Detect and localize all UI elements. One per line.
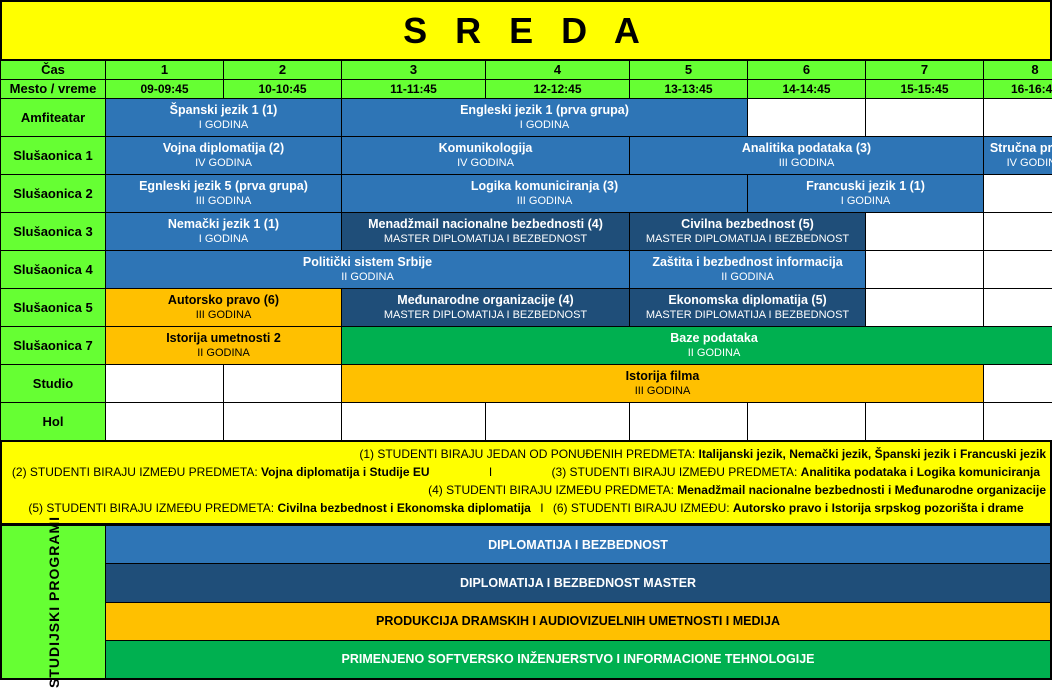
period-header-5: 5 [630, 61, 748, 80]
empty-slot-cell [866, 251, 984, 289]
empty-slot-cell [984, 289, 1052, 327]
footnote-6-prefix: (6) STUDENTI BIRAJU IZMEĐU: [553, 501, 733, 515]
schedule-body: AmfiteatarŠpanski jezik 1 (1)I GODINAEng… [1, 99, 1052, 441]
study-program-item[interactable]: PRIMENJENO SOFTVERSKO INŽENJERSTVO I INF… [106, 641, 1050, 678]
class-title: Logika komuniciranja (3) [342, 179, 747, 194]
room-label-6: Slušaonica 7 [1, 327, 106, 365]
period-header-row: Čas12345678 [1, 61, 1052, 80]
footnote-3-subjects: Analitika podataka i Logika komuniciranj… [801, 465, 1040, 479]
study-programs-label-text: STUDIJSKI PROGRAMI [46, 516, 62, 688]
footnote-5-subjects: Civilna bezbednost i Ekonomska diplomati… [277, 501, 530, 515]
table-row: Slušaonica 1Vojna diplomatija (2)IV GODI… [1, 137, 1052, 175]
schedule-page: S R E D A Čas12345678 Mesto / vreme09-09… [0, 0, 1052, 692]
footnote-2-3: (2) STUDENTI BIRAJU IZMEĐU PREDMETA: Voj… [6, 463, 1046, 481]
footnote-3-prefix: (3) STUDENTI BIRAJU IZMEĐU PREDMETA: [552, 465, 801, 479]
class-title: Španski jezik 1 (1) [106, 103, 341, 118]
study-program-item[interactable]: PRODUKCIJA DRAMSKIH I AUDIOVIZUELNIH UME… [106, 603, 1050, 641]
class-year: IV GODINA [984, 156, 1052, 170]
study-program-label: DIPLOMATIJA I BEZBEDNOST MASTER [460, 576, 696, 590]
time-header-row: Mesto / vreme09-09:4510-10:4511-11:4512-… [1, 80, 1052, 99]
class-title: Stručna praksa [984, 141, 1052, 156]
empty-slot-cell [866, 213, 984, 251]
class-title: Engleski jezik 1 (prva grupa) [342, 103, 747, 118]
room-label-0: Amfiteatar [1, 99, 106, 137]
footnote-4-subjects: Menadžmail nacionalne bezbednosti i Među… [677, 483, 1046, 497]
room-label-1: Slušaonica 1 [1, 137, 106, 175]
class-title: Egnleski jezik 5 (prva grupa) [106, 179, 341, 194]
table-row: Slušaonica 4Politički sistem SrbijeII GO… [1, 251, 1052, 289]
class-cell[interactable]: Analitika podataka (3)III GODINA [630, 137, 984, 175]
day-title-banner: S R E D A [0, 0, 1052, 60]
footnote-5-prefix: (5) STUDENTI BIRAJU IZMEĐU PREDMETA: [28, 501, 277, 515]
table-row: StudioIstorija filmaIII GODINA [1, 365, 1052, 403]
class-cell[interactable]: Španski jezik 1 (1)I GODINA [106, 99, 342, 137]
class-cell[interactable]: Civilna bezbednost (5)MASTER DIPLOMATIJA… [630, 213, 866, 251]
study-programs-block: STUDIJSKI PROGRAMI DIPLOMATIJA I BEZBEDN… [0, 525, 1052, 680]
class-cell[interactable]: Autorsko pravo (6)III GODINA [106, 289, 342, 327]
period-header-7: 7 [866, 61, 984, 80]
class-cell[interactable]: Istorija filmaIII GODINA [342, 365, 984, 403]
study-program-label: PRODUKCIJA DRAMSKIH I AUDIOVIZUELNIH UME… [376, 614, 780, 628]
empty-slot-cell [984, 213, 1052, 251]
room-label-3: Slušaonica 3 [1, 213, 106, 251]
page-title: S R E D A [403, 10, 649, 52]
empty-slot-cell [630, 403, 748, 441]
class-year: II GODINA [106, 346, 341, 360]
table-row: Slušaonica 3Nemački jezik 1 (1)I GODINAM… [1, 213, 1052, 251]
class-year: III GODINA [630, 156, 983, 170]
class-year: MASTER DIPLOMATIJA I BEZBEDNOST [342, 232, 629, 246]
empty-slot-cell [984, 175, 1052, 213]
class-title: Vojna diplomatija (2) [106, 141, 341, 156]
class-year: III GODINA [106, 194, 341, 208]
empty-slot-cell [866, 403, 984, 441]
class-year: III GODINA [342, 384, 983, 398]
schedule-table: Čas12345678 Mesto / vreme09-09:4510-10:4… [0, 60, 1052, 441]
schedule-header: Čas12345678 Mesto / vreme09-09:4510-10:4… [1, 61, 1052, 99]
empty-slot-cell [984, 251, 1052, 289]
empty-slot-cell [224, 365, 342, 403]
empty-slot-cell [342, 403, 486, 441]
class-title: Komunikologija [342, 141, 629, 156]
period-header-label: Čas [1, 61, 106, 80]
study-program-label: DIPLOMATIJA I BEZBEDNOST [488, 538, 668, 552]
empty-slot-cell [984, 403, 1052, 441]
footnote-1: (1) STUDENTI BIRAJU JEDAN OD PONUĐENIH P… [6, 445, 1046, 463]
footnote-6-subjects: Autorsko pravo i Istorija srpskog pozori… [733, 501, 1024, 515]
time-header-3: 11-11:45 [342, 80, 486, 99]
class-year: III GODINA [342, 194, 747, 208]
class-cell[interactable]: Menadžmail nacionalne bezbednosti (4)MAS… [342, 213, 630, 251]
empty-slot-cell [866, 289, 984, 327]
empty-slot-cell [984, 365, 1052, 403]
class-cell[interactable]: Vojna diplomatija (2)IV GODINA [106, 137, 342, 175]
class-cell[interactable]: Ekonomska diplomatija (5)MASTER DIPLOMAT… [630, 289, 866, 327]
class-cell[interactable]: Zaštita i bezbednost informacijaII GODIN… [630, 251, 866, 289]
footnote-4: (4) STUDENTI BIRAJU IZMEĐU PREDMETA: Men… [6, 481, 1046, 499]
empty-slot-cell [486, 403, 630, 441]
time-header-7: 15-15:45 [866, 80, 984, 99]
class-title: Civilna bezbednost (5) [630, 217, 865, 232]
room-label-2: Slušaonica 2 [1, 175, 106, 213]
time-header-2: 10-10:45 [224, 80, 342, 99]
period-header-3: 3 [342, 61, 486, 80]
class-title: Analitika podataka (3) [630, 141, 983, 156]
class-title: Istorija filma [342, 369, 983, 384]
study-programs-list: DIPLOMATIJA I BEZBEDNOSTDIPLOMATIJA I BE… [106, 526, 1050, 678]
empty-slot-cell [224, 403, 342, 441]
class-year: I GODINA [106, 118, 341, 132]
time-header-1: 09-09:45 [106, 80, 224, 99]
period-header-4: 4 [486, 61, 630, 80]
time-header-6: 14-14:45 [748, 80, 866, 99]
empty-slot-cell [748, 99, 866, 137]
time-header-8: 16-16:45 [984, 80, 1052, 99]
period-header-8: 8 [984, 61, 1052, 80]
class-title: Baze podataka [342, 331, 1052, 346]
footnote-5-6: (5) STUDENTI BIRAJU IZMEĐU PREDMETA: Civ… [6, 499, 1046, 517]
class-title: Menadžmail nacionalne bezbednosti (4) [342, 217, 629, 232]
footnote-4-prefix: (4) STUDENTI BIRAJU IZMEĐU PREDMETA: [428, 483, 677, 497]
period-header-1: 1 [106, 61, 224, 80]
footnote-1-prefix: (1) STUDENTI BIRAJU JEDAN OD PONUĐENIH P… [359, 447, 698, 461]
room-label-4: Slušaonica 4 [1, 251, 106, 289]
time-header-5: 13-13:45 [630, 80, 748, 99]
study-program-item[interactable]: DIPLOMATIJA I BEZBEDNOST [106, 526, 1050, 564]
class-year: MASTER DIPLOMATIJA I BEZBEDNOST [630, 308, 865, 322]
table-row: Slušaonica 7Istorija umetnosti 2II GODIN… [1, 327, 1052, 365]
class-cell[interactable]: Francuski jezik 1 (1)I GODINA [748, 175, 984, 213]
class-year: I GODINA [106, 232, 341, 246]
class-cell[interactable]: Baze podatakaII GODINA [342, 327, 1052, 365]
footnote-2-prefix: (2) STUDENTI BIRAJU IZMEĐU PREDMETA: [12, 465, 261, 479]
class-year: II GODINA [106, 270, 629, 284]
class-year: IV GODINA [106, 156, 341, 170]
class-cell[interactable]: Istorija umetnosti 2II GODINA [106, 327, 342, 365]
period-header-2: 2 [224, 61, 342, 80]
class-cell[interactable]: Politički sistem SrbijeII GODINA [106, 251, 630, 289]
room-label-7: Studio [1, 365, 106, 403]
table-row: AmfiteatarŠpanski jezik 1 (1)I GODINAEng… [1, 99, 1052, 137]
time-header-4: 12-12:45 [486, 80, 630, 99]
footnote-2-subjects: Vojna diplomatija i Studije EU [261, 465, 429, 479]
class-year: MASTER DIPLOMATIJA I BEZBEDNOST [342, 308, 629, 322]
empty-slot-cell [748, 403, 866, 441]
class-title: Međunarodne organizacije (4) [342, 293, 629, 308]
class-title: Autorsko pravo (6) [106, 293, 341, 308]
class-cell[interactable]: Egnleski jezik 5 (prva grupa)III GODINA [106, 175, 342, 213]
study-program-item[interactable]: DIPLOMATIJA I BEZBEDNOST MASTER [106, 564, 1050, 602]
class-year: II GODINA [630, 270, 865, 284]
class-cell[interactable]: KomunikologijaIV GODINA [342, 137, 630, 175]
class-cell[interactable]: Međunarodne organizacije (4)MASTER DIPLO… [342, 289, 630, 327]
class-year: I GODINA [748, 194, 983, 208]
empty-slot-cell [866, 99, 984, 137]
footnote-5-separator: I [540, 501, 543, 515]
period-header-6: 6 [748, 61, 866, 80]
class-title: Politički sistem Srbije [106, 255, 629, 270]
class-title: Francuski jezik 1 (1) [748, 179, 983, 194]
class-title: Nemački jezik 1 (1) [106, 217, 341, 232]
footnote-2-separator: I [489, 465, 492, 479]
table-row: Slušaonica 5Autorsko pravo (6)III GODINA… [1, 289, 1052, 327]
class-title: Ekonomska diplomatija (5) [630, 293, 865, 308]
table-row: Hol [1, 403, 1052, 441]
class-cell[interactable]: Nemački jezik 1 (1)I GODINA [106, 213, 342, 251]
class-cell[interactable]: Stručna praksaIV GODINA [984, 137, 1052, 175]
time-header-label: Mesto / vreme [1, 80, 106, 99]
room-label-5: Slušaonica 5 [1, 289, 106, 327]
study-program-label: PRIMENJENO SOFTVERSKO INŽENJERSTVO I INF… [342, 652, 815, 666]
class-year: MASTER DIPLOMATIJA I BEZBEDNOST [630, 232, 865, 246]
empty-slot-cell [106, 403, 224, 441]
class-year: IV GODINA [342, 156, 629, 170]
class-cell[interactable]: Engleski jezik 1 (prva grupa)I GODINA [342, 99, 748, 137]
class-year: I GODINA [342, 118, 747, 132]
study-programs-side-label: STUDIJSKI PROGRAMI [2, 526, 106, 678]
class-title: Zaštita i bezbednost informacija [630, 255, 865, 270]
class-year: III GODINA [106, 308, 341, 322]
empty-slot-cell [106, 365, 224, 403]
class-year: II GODINA [342, 346, 1052, 360]
room-label-8: Hol [1, 403, 106, 441]
class-cell[interactable]: Logika komuniciranja (3)III GODINA [342, 175, 748, 213]
empty-slot-cell [984, 99, 1052, 137]
footnotes-block: (1) STUDENTI BIRAJU JEDAN OD PONUĐENIH P… [0, 441, 1052, 525]
table-row: Slušaonica 2Egnleski jezik 5 (prva grupa… [1, 175, 1052, 213]
class-title: Istorija umetnosti 2 [106, 331, 341, 346]
footnote-1-subjects: Italijanski jezik, Nemački jezik, Špansk… [698, 447, 1046, 461]
